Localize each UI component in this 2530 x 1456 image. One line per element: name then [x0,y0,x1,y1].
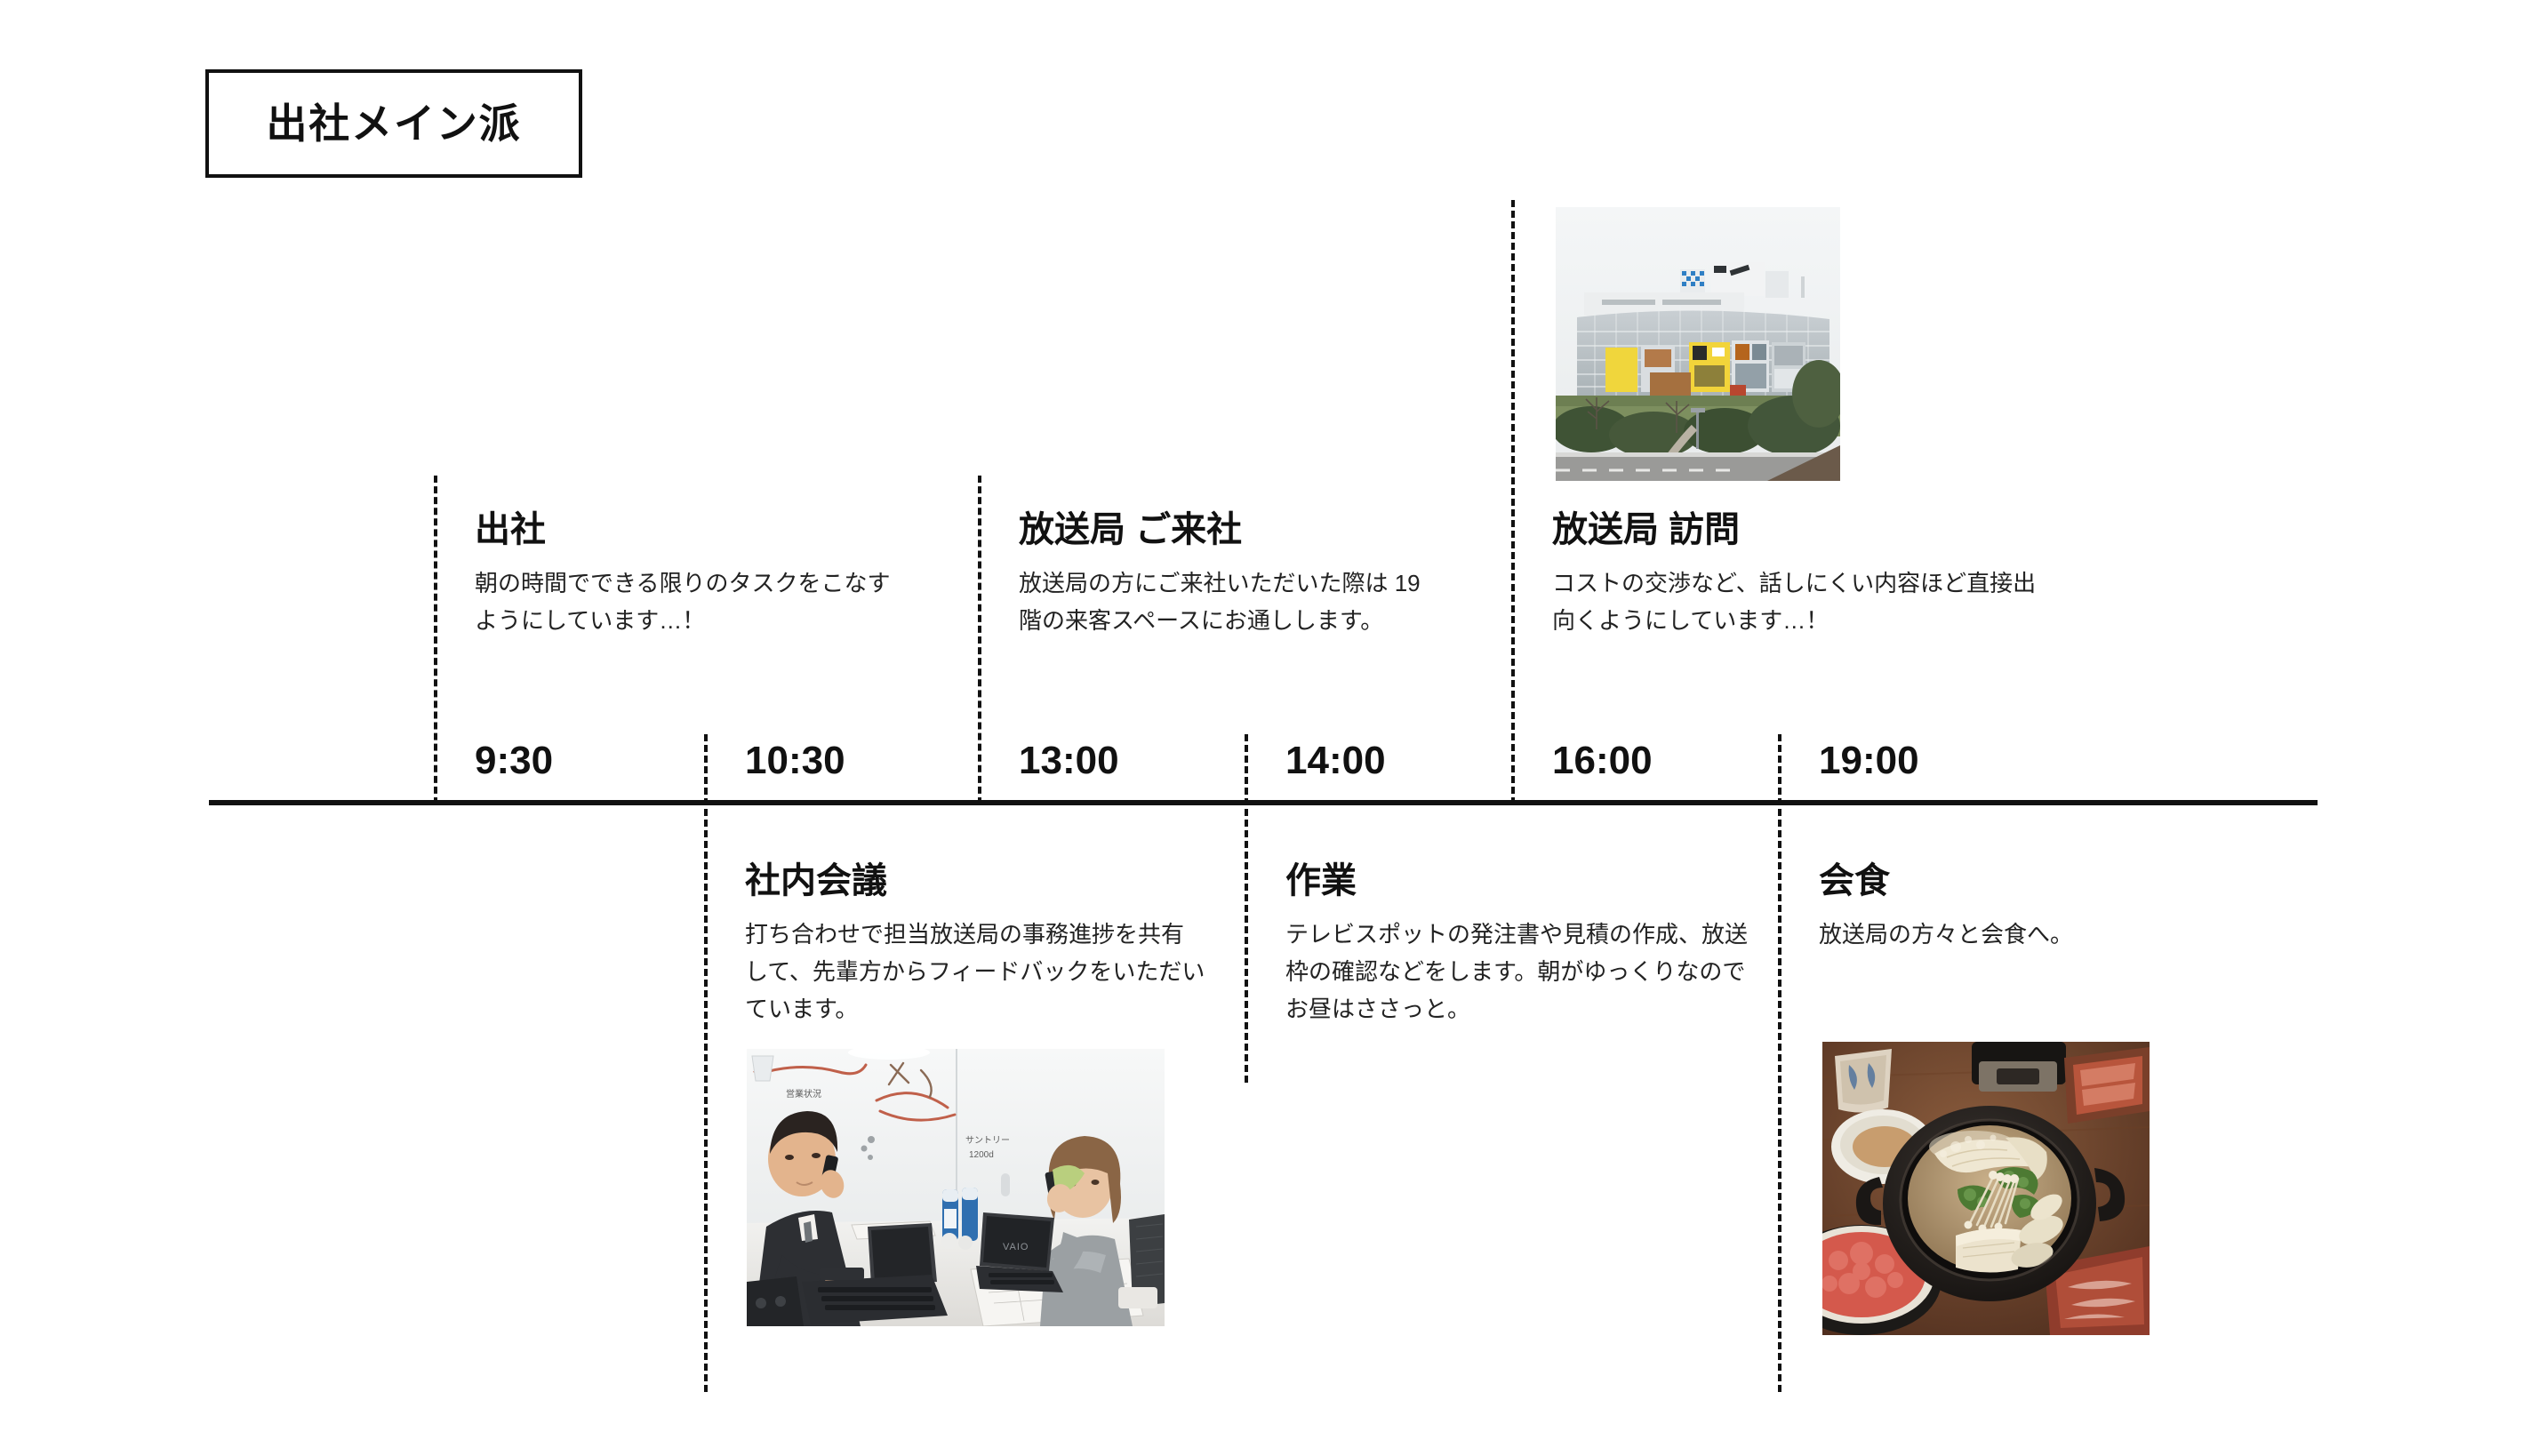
dinner-hotpot-image [1822,1042,2150,1335]
timeline-entry-1300: 放送局 ご来社 放送局の方にご来社いただいた際は 19 階の来客スペースにお通し… [1019,508,1437,639]
internal-meeting-room-image: 営業状況 サントリー 1200d [747,1049,1165,1326]
entry-title: 放送局 ご来社 [1019,508,1437,552]
time-label-0930: 9:30 [475,741,553,780]
internal-meeting-room-photo: 営業状況 サントリー 1200d [747,1049,1165,1326]
broadcast-station-building-photo [1556,207,1840,481]
timeline-axis [209,800,2318,805]
entry-title: 出社 [475,508,893,552]
tick-line-0930 [434,476,437,804]
svg-text:サントリー: サントリー [965,1135,1010,1146]
broadcast-station-building-image [1556,207,1840,481]
time-label-1900: 19:00 [1819,741,1919,780]
timeline-entry-1600: 放送局 訪問 コストの交渉など、話しにくい内容ほど直接出向くようにしています…！ [1552,508,2050,639]
entry-description: コストの交渉など、話しにくい内容ほど直接出向くようにしています…！ [1552,564,2050,639]
category-badge-label: 出社メイン派 [266,103,521,144]
time-label-1400: 14:00 [1285,741,1386,780]
time-label-1600: 16:00 [1552,741,1653,780]
time-label-1300: 13:00 [1019,741,1119,780]
svg-text:VAIO: VAIO [1003,1242,1029,1252]
tick-line-1030 [704,734,708,1392]
entry-title: 作業 [1285,859,1748,903]
entry-title: 社内会議 [745,859,1207,903]
tick-line-1300 [978,476,981,804]
tick-line-1600 [1511,200,1515,804]
category-badge: 出社メイン派 [205,69,582,178]
svg-text:営業状況: 営業状況 [786,1088,821,1100]
timeline-infographic: 出社メイン派 9:30 10:30 13:00 14:00 16:00 19:0… [0,0,2530,1456]
entry-description: 放送局の方にご来社いただいた際は 19 階の来客スペースにお通しします。 [1019,564,1437,639]
time-label-1030: 10:30 [745,741,845,780]
entry-description: テレビスポットの発注書や見積の作成、放送枠の確認などをします。朝がゆっくりなので… [1285,916,1748,1028]
svg-text:1200d: 1200d [969,1150,994,1160]
entry-title: 会食 [1819,859,2237,903]
timeline-entry-0930: 出社 朝の時間でできる限りのタスクをこなすようにしています…！ [475,508,893,639]
dinner-hotpot-photo [1822,1042,2150,1335]
tick-line-1400 [1245,734,1248,1083]
timeline-entry-1900: 会食 放送局の方々と会食へ。 [1819,859,2237,953]
timeline-entry-1400: 作業 テレビスポットの発注書や見積の作成、放送枠の確認などをします。朝がゆっくり… [1285,859,1748,1028]
entry-title: 放送局 訪問 [1552,508,2050,552]
entry-description: 打ち合わせで担当放送局の事務進捗を共有して、先輩方からフィードバックをいただいて… [745,916,1207,1028]
timeline-entry-1030: 社内会議 打ち合わせで担当放送局の事務進捗を共有して、先輩方からフィードバックを… [745,859,1207,1028]
tick-line-1900 [1778,734,1781,1392]
entry-description: 朝の時間でできる限りのタスクをこなすようにしています…！ [475,564,893,639]
entry-description: 放送局の方々と会食へ。 [1819,916,2237,953]
